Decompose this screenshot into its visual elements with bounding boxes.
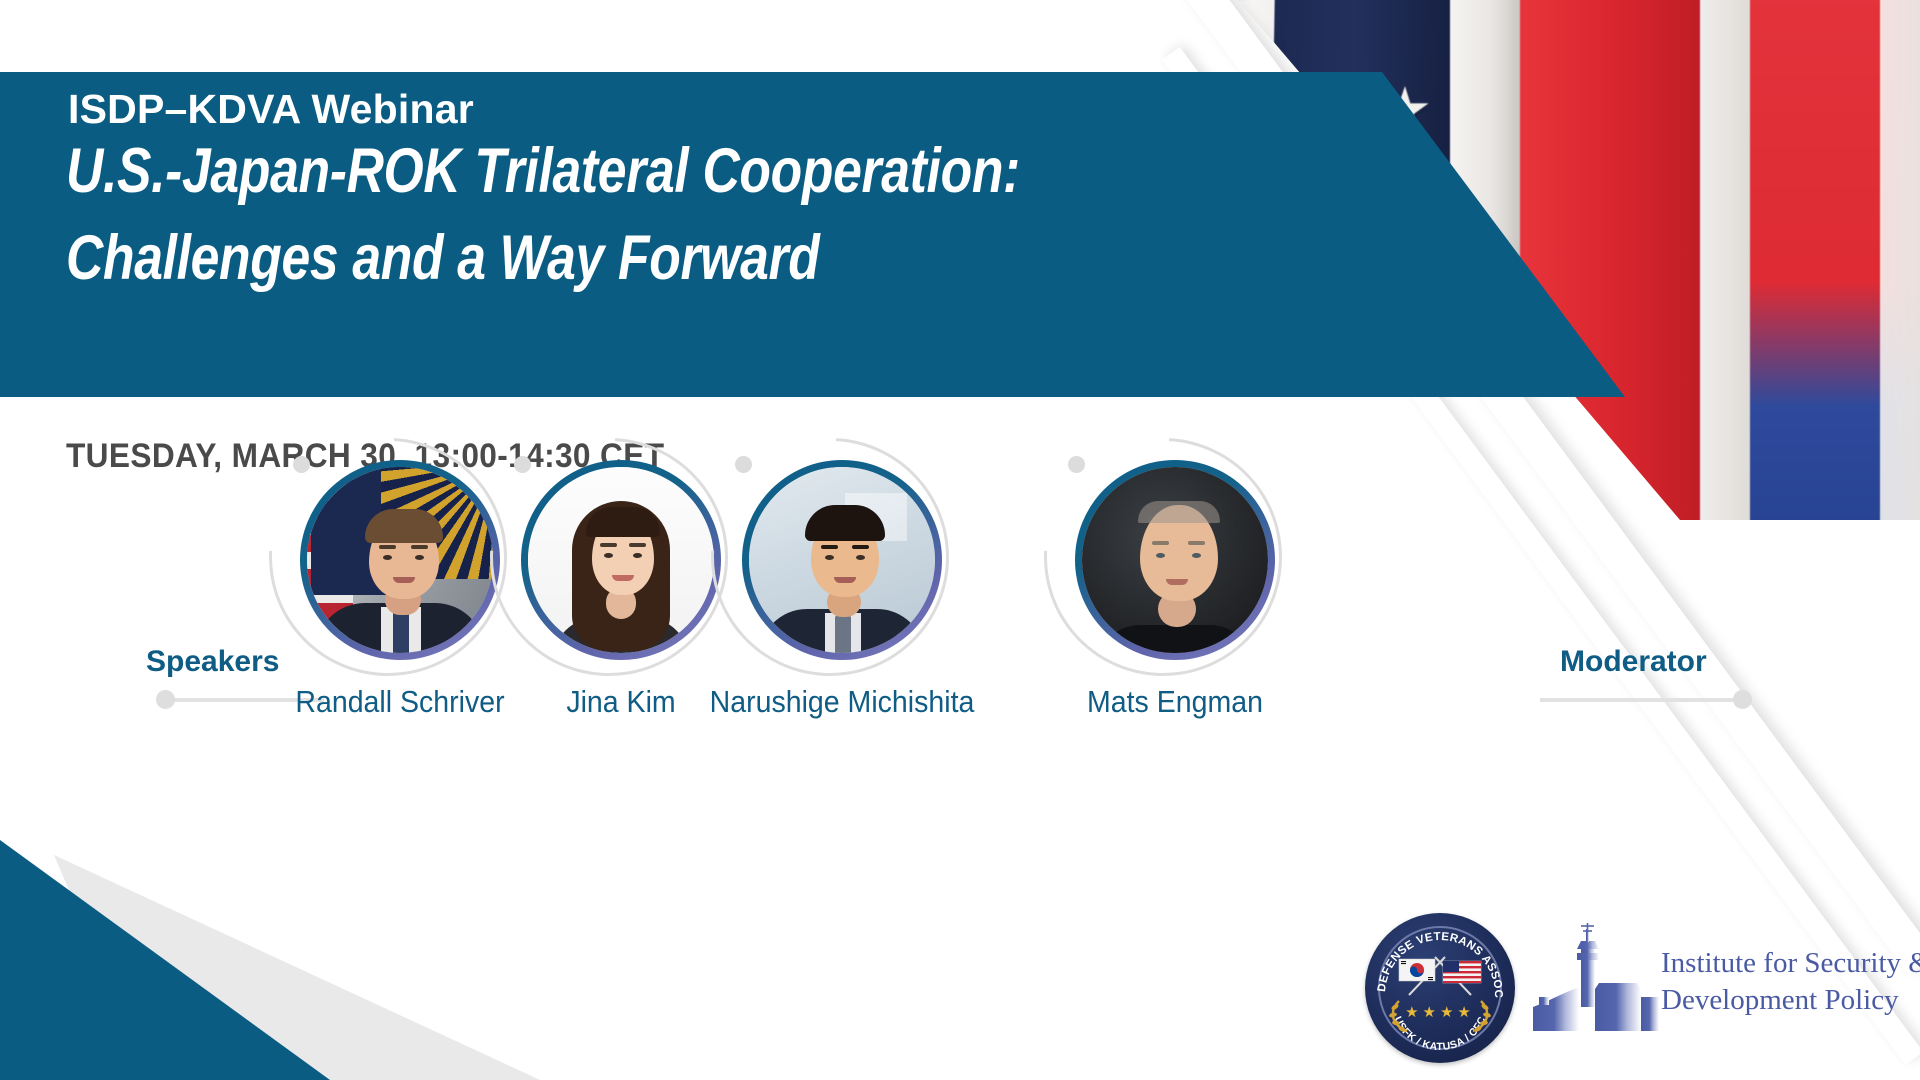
headshot-randall-schriver	[307, 467, 493, 653]
person-card-mats-engman: Mats Engman	[1060, 452, 1290, 692]
moderator-connector-dot	[1733, 690, 1752, 709]
kdva-stars: ★★★★	[1365, 1005, 1515, 1020]
isdp-line-1: Institute for Security &	[1661, 945, 1920, 982]
headline-line-1: U.S.-Japan-ROK Trilateral Cooperation:	[66, 128, 1020, 215]
avatar	[521, 460, 721, 660]
avatar-photo	[1082, 467, 1268, 653]
speakers-connector-dot	[156, 690, 175, 709]
isdp-wordmark: Institute for Security & Development Pol…	[1661, 945, 1920, 1019]
kdva-logo: KOREA DEFENSE VETERANS ASSOCIATION USFK …	[1365, 913, 1515, 1063]
person-card-randall-schriver: Randall Schriver	[285, 452, 515, 692]
avatar-photo	[749, 467, 935, 653]
headshot-jina-kim	[528, 467, 714, 653]
avatar-photo	[307, 467, 493, 653]
avatar	[300, 460, 500, 660]
person-card-narushige-michishita: Narushige Michishita	[727, 452, 957, 692]
people-row: Randall Schriver	[0, 452, 1920, 742]
headline-band: ISDP–KDVA Webinar U.S.-Japan-ROK Trilate…	[0, 72, 1625, 397]
headshot-mats-engman	[1082, 467, 1268, 653]
page-title: U.S.-Japan-ROK Trilateral Cooperation: C…	[66, 128, 1020, 302]
headline-line-2: Challenges and a Way Forward	[66, 215, 1020, 302]
person-name: Narushige Michishita	[699, 684, 984, 720]
flag-edge-white	[1880, 0, 1920, 520]
speakers-label: Speakers	[146, 645, 279, 679]
person-name: Mats Engman	[1032, 684, 1317, 720]
isdp-line-2: Development Policy	[1661, 982, 1920, 1019]
avatar	[742, 460, 942, 660]
avatar-photo	[528, 467, 714, 653]
person-card-jina-kim: Jina Kim	[506, 452, 736, 692]
webinar-poster: ★ ★ ★ ★ ★ ★ ★ ISDP–KDVA Webinar U.S.-Jap…	[0, 0, 1920, 1080]
isdp-logo: Institute for Security & Development Pol…	[1533, 923, 1883, 1048]
logo-row: KOREA DEFENSE VETERANS ASSOCIATION USFK …	[1355, 905, 1885, 1065]
crossed-flags-icon	[1391, 953, 1489, 997]
event-kicker: ISDP–KDVA Webinar	[68, 86, 474, 133]
isdp-tower-icon	[1533, 923, 1663, 1041]
headshot-narushige-michishita	[749, 467, 935, 653]
moderator-label: Moderator	[1560, 645, 1707, 679]
avatar	[1075, 460, 1275, 660]
